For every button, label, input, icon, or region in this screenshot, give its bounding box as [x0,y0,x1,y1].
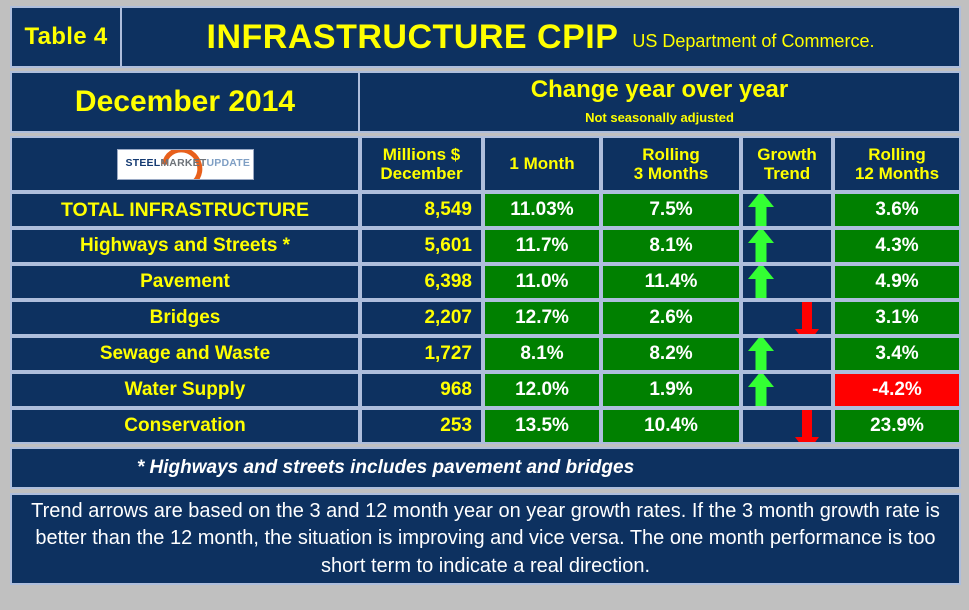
cell-growth-trend [741,192,833,228]
cell-rolling-3: 11.4% [601,264,741,300]
row-label: TOTAL INFRASTRUCTURE [10,192,360,228]
title-source: US Department of Commerce. [632,22,874,52]
cell-millions: 6,398 [360,264,483,300]
cell-rolling-12: 4.9% [833,264,961,300]
logo-words: STEELMARKETUPDATE [118,158,251,170]
cell-growth-trend [741,372,833,408]
table-header-row: STEELMARKETUPDATE Millions $ December 1 … [10,136,961,192]
table-row: Pavement6,39811.0%11.4%4.9% [10,264,961,300]
cell-one-month: 11.0% [483,264,601,300]
table-row: TOTAL INFRASTRUCTURE8,54911.03%7.5%3.6% [10,192,961,228]
arrow-stem [802,300,812,330]
col-onemonth-line1: 1 Month [509,154,574,173]
arrow-head [795,329,819,336]
row-label: Conservation [10,408,360,444]
col-millions-line2: December [380,164,462,183]
logo-word-update: UPDATE [206,157,250,169]
col-millions-line1: Millions $ [383,145,460,164]
arrow-stem [756,278,767,300]
cell-rolling-12: 3.4% [833,336,961,372]
cell-rolling-12: 23.9% [833,408,961,444]
cell-growth-trend [741,300,833,336]
column-header-rolling-3: Rolling 3 Months [601,136,741,192]
table-row: Conservation25313.5%10.4%23.9% [10,408,961,444]
column-header-one-month: 1 Month [483,136,601,192]
cell-rolling-3: 8.2% [601,336,741,372]
cell-growth-trend [741,336,833,372]
cell-millions: 968 [360,372,483,408]
cell-millions: 8,549 [360,192,483,228]
col-rolling3-line1: Rolling [642,145,700,164]
col-rolling3-line2: 3 Months [634,164,709,183]
row-label: Bridges [10,300,360,336]
cell-millions: 5,601 [360,228,483,264]
cell-rolling-3: 8.1% [601,228,741,264]
cell-one-month: 12.0% [483,372,601,408]
arrow-head [748,336,774,351]
row-label: Pavement [10,264,360,300]
arrow-head [748,372,774,387]
arrow-stem [756,386,767,408]
cell-one-month: 11.03% [483,192,601,228]
col-growth-line2: Trend [764,164,810,183]
cell-growth-trend [741,264,833,300]
arrow-wrap [743,374,831,406]
steel-market-update-logo: STEELMARKETUPDATE [117,149,254,180]
logo-word-market: MARKET [160,157,206,169]
arrow-head [795,437,819,444]
arrow-wrap [743,338,831,370]
arrow-stem [756,242,767,264]
arrow-stem [802,408,812,438]
cell-one-month: 12.7% [483,300,601,336]
table-row: Highways and Streets *5,60111.7%8.1%4.3% [10,228,961,264]
table-body: TOTAL INFRASTRUCTURE8,54911.03%7.5%3.6%H… [10,192,961,444]
cell-millions: 1,727 [360,336,483,372]
col-growth-line1: Growth [757,145,817,164]
change-title: Change year over year [531,77,788,102]
cell-growth-trend [741,228,833,264]
row-label: Highways and Streets * [10,228,360,264]
page-title: INFRASTRUCTURE CPIP [207,18,619,57]
table-number: Table 4 [10,6,122,68]
smu-logo-cell: STEELMARKETUPDATE [10,136,360,192]
table-row: Bridges2,20712.7%2.6%3.1% [10,300,961,336]
arrow-stem [756,206,767,228]
table-row: Water Supply96812.0%1.9%-4.2% [10,372,961,408]
column-header-growth-trend: Growth Trend [741,136,833,192]
logo-word-steel: STEEL [126,157,161,169]
cell-rolling-12: 3.1% [833,300,961,336]
period-band: December 2014 Change year over year Not … [10,71,961,133]
arrow-wrap [743,266,831,298]
row-label: Water Supply [10,372,360,408]
title-band: Table 4 INFRASTRUCTURE CPIP US Departmen… [10,6,961,68]
cell-rolling-3: 1.9% [601,372,741,408]
cell-rolling-12: 3.6% [833,192,961,228]
footnote: * Highways and streets includes pavement… [10,447,961,489]
arrow-wrap [743,194,831,226]
col-rolling12-line2: 12 Months [855,164,939,183]
change-header: Change year over year Not seasonally adj… [360,71,961,133]
cell-rolling-3: 7.5% [601,192,741,228]
arrow-head [748,228,774,243]
cell-one-month: 11.7% [483,228,601,264]
period-label: December 2014 [10,71,360,133]
arrow-head [748,192,774,207]
arrow-wrap [743,410,831,442]
arrow-wrap [743,302,831,334]
column-header-millions: Millions $ December [360,136,483,192]
cell-rolling-12: -4.2% [833,372,961,408]
data-table: STEELMARKETUPDATE Millions $ December 1 … [10,136,961,444]
table-row: Sewage and Waste1,7278.1%8.2%3.4% [10,336,961,372]
slide-root: Table 4 INFRASTRUCTURE CPIP US Departmen… [0,0,969,610]
cell-rolling-3: 2.6% [601,300,741,336]
cell-rolling-12: 4.3% [833,228,961,264]
arrow-stem [756,350,767,372]
row-label: Sewage and Waste [10,336,360,372]
cell-one-month: 8.1% [483,336,601,372]
column-header-rolling-12: Rolling 12 Months [833,136,961,192]
arrow-head [748,264,774,279]
cell-one-month: 13.5% [483,408,601,444]
arrow-wrap [743,230,831,262]
change-subtitle: Not seasonally adjusted [585,110,734,125]
title-block: INFRASTRUCTURE CPIP US Department of Com… [122,6,961,68]
cell-millions: 253 [360,408,483,444]
trend-note: Trend arrows are based on the 3 and 12 m… [10,493,961,585]
cell-growth-trend [741,408,833,444]
col-rolling12-line1: Rolling [868,145,926,164]
cell-rolling-3: 10.4% [601,408,741,444]
cell-millions: 2,207 [360,300,483,336]
